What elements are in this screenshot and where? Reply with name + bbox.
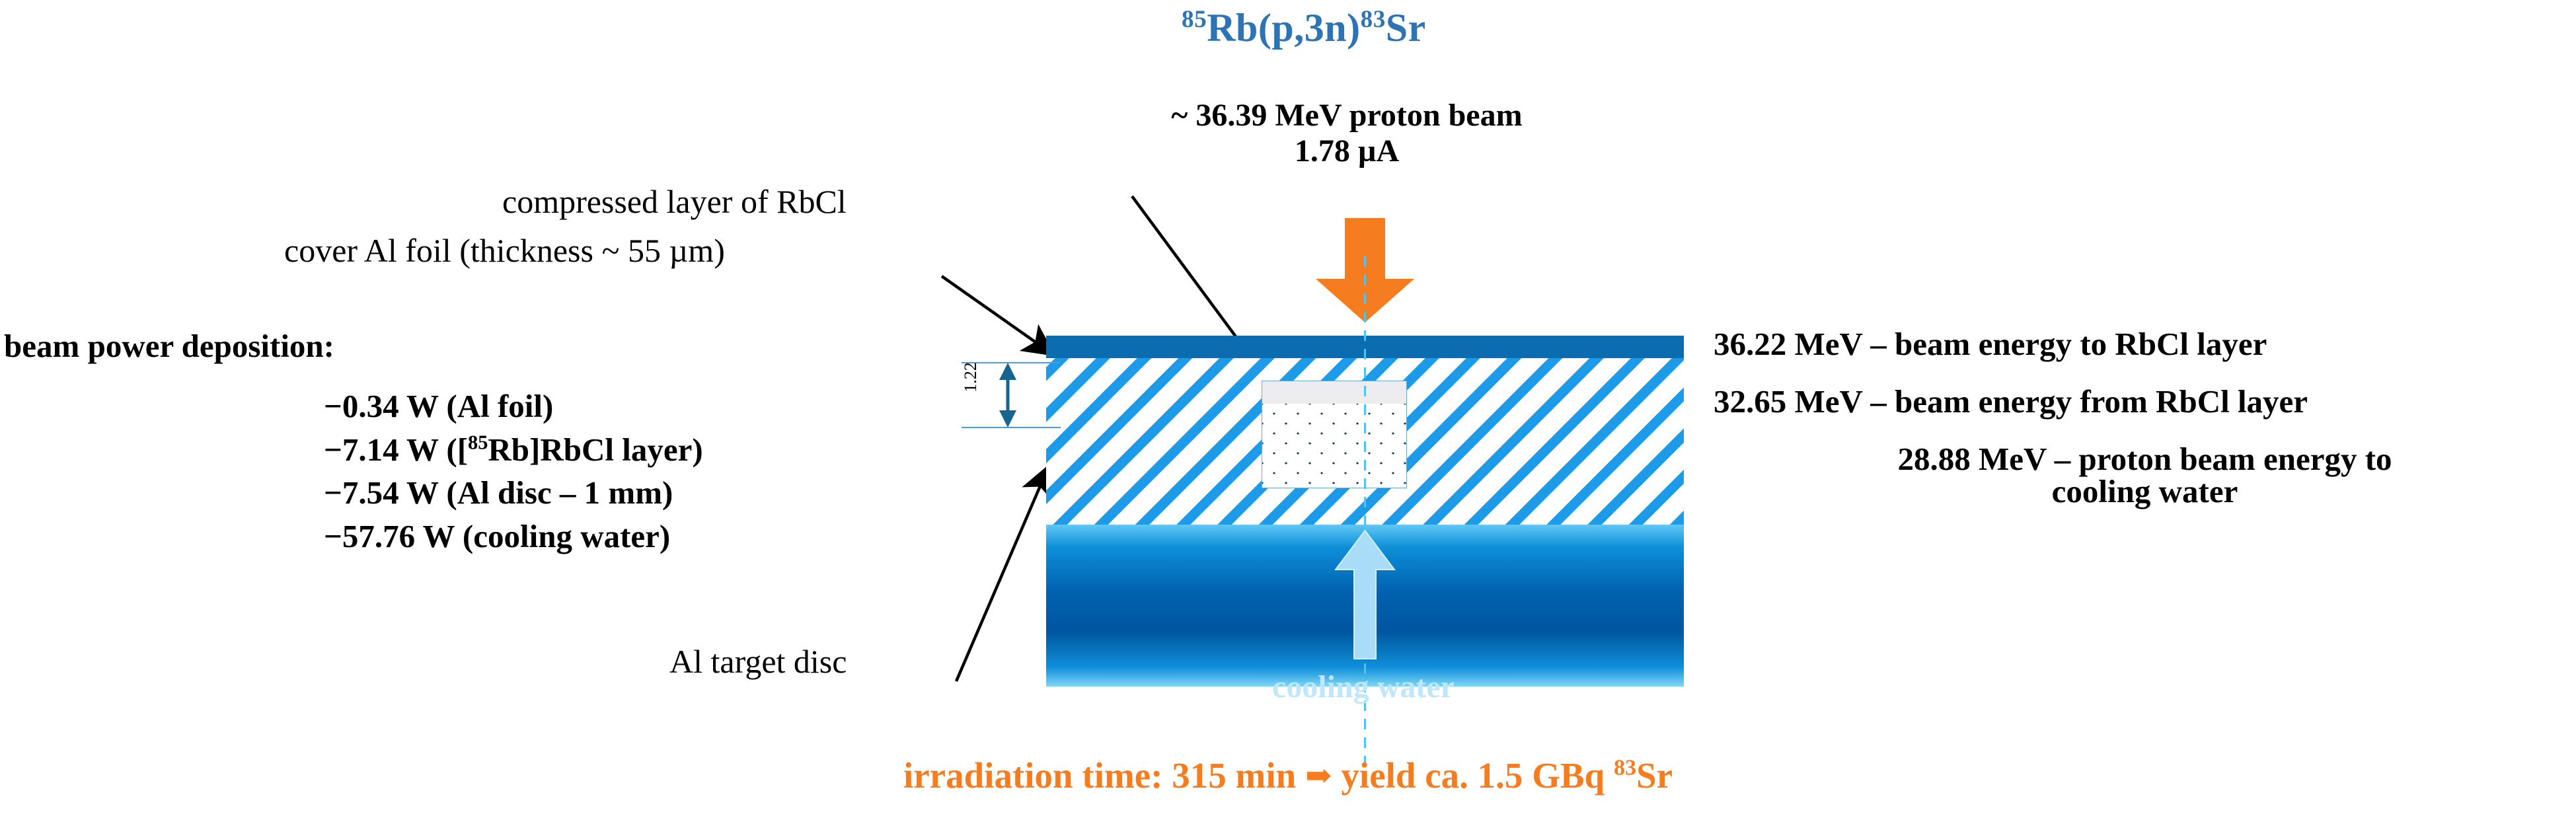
energy-note-line: 32.65 MeV – beam energy from RbCl layer (1714, 385, 2576, 418)
irradiation-summary: irradiation time: 315 min➡yield ca. 1.5 … (0, 755, 2576, 796)
rbcl-compressed-region (1262, 381, 1407, 488)
energy-note-line: 36.22 MeV – beam energy to RbCl layer (1714, 328, 2576, 360)
energy-note-to-cooling-water: 28.88 MeV – proton beam energy to coolin… (1714, 443, 2576, 507)
power-item-cooling-water: −57.76 W (cooling water) (324, 515, 703, 558)
power-item-rbcl-layer: −7.14 W ([85Rb]RbCl layer) (324, 428, 703, 472)
energy-notes-list: 36.22 MeV – beam energy to RbCl layer 32… (1714, 328, 2576, 533)
dimension-value-1-22: 1.22 (961, 348, 981, 407)
power-component: (Al foil) (446, 388, 553, 424)
beam-power-deposition-list: −0.34 W (Al foil) −7.14 W ([85Rb]RbCl la… (324, 385, 703, 558)
yield-pre: yield ca. 1.5 GBq (1341, 755, 1614, 796)
power-component-sup: 85 (468, 431, 488, 453)
right-arrow-icon: ➡ (1296, 759, 1341, 794)
energy-note-line-2: cooling water (1714, 475, 2576, 507)
reaction-title-post: Sr (1386, 6, 1426, 50)
beam-power-deposition-title: beam power deposition: (4, 327, 334, 365)
rbcl-powder-pattern (1262, 404, 1406, 488)
power-value: −0.34 W (324, 388, 438, 424)
reaction-title-sup-85: 85 (1182, 6, 1207, 33)
energy-note-line: 28.88 MeV – proton beam energy to (1714, 443, 2576, 475)
power-value: −57.76 W (324, 518, 455, 554)
cooling-water-flow-arrow-icon (1334, 529, 1396, 661)
power-value: −7.54 W (324, 474, 438, 511)
beam-energy-line: ~ 36.39 MeV proton beam (1096, 98, 1598, 133)
leader-al-target-disc (956, 469, 1047, 681)
power-item-al-foil: −0.34 W (Al foil) (324, 385, 703, 428)
leader-cover-foil (942, 276, 1051, 353)
reaction-title-sup-83: 83 (1361, 6, 1386, 33)
yield-sup-83: 83 (1614, 756, 1636, 780)
irradiation-time: irradiation time: 315 min (903, 755, 1296, 796)
energy-note-to-rbcl: 36.22 MeV – beam energy to RbCl layer (1714, 328, 2576, 360)
callout-rbcl-layer: compressed layer of RbCl (502, 182, 847, 221)
power-value: −7.14 W (324, 431, 438, 468)
rbcl-cap (1262, 381, 1406, 404)
callout-al-target-disc: Al target disc (669, 642, 847, 681)
power-item-al-disc: −7.54 W (Al disc – 1 mm) (324, 471, 703, 515)
power-component: (Al disc – 1 mm) (446, 474, 673, 511)
power-component: ([85Rb]RbCl layer) (446, 431, 702, 468)
beam-current-line: 1.78 µA (1096, 133, 1598, 169)
cooling-water-label: cooling water (1211, 669, 1515, 705)
power-component-post: Rb]RbCl layer) (488, 431, 702, 468)
energy-note-from-rbcl: 32.65 MeV – beam energy from RbCl layer (1714, 385, 2576, 418)
beam-specification: ~ 36.39 MeV proton beam 1.78 µA (1096, 98, 1598, 169)
power-component: (cooling water) (463, 518, 670, 554)
yield-post: Sr (1636, 755, 1673, 796)
dimension-arrow-1-22 (995, 362, 1021, 428)
power-component-pre: ([ (446, 431, 468, 468)
reaction-title: 85Rb(p,3n)83Sr (1182, 5, 1426, 51)
callout-cover-al-foil: cover Al foil (thickness ~ 55 µm) (284, 231, 725, 270)
reaction-title-mid: Rb(p,3n) (1207, 6, 1360, 50)
